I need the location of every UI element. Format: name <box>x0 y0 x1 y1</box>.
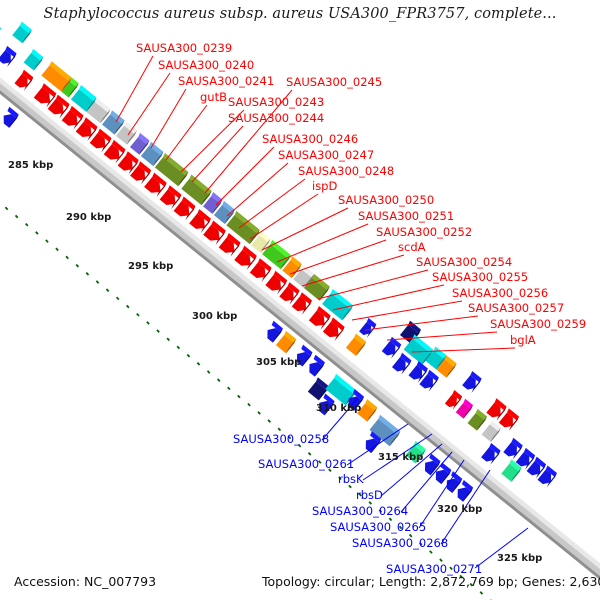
reverse-strand-labels[interactable]: SAUSA300_0258SAUSA300_0261rbsKrbsDSAUSA3… <box>0 0 600 600</box>
gene-label-sausa300_0261[interactable]: SAUSA300_0261 <box>258 458 354 470</box>
genome-viewer-canvas[interactable]: Staphylococcus aureus subsp. aureus USA3… <box>0 0 600 600</box>
accession-text: Accession: NC_007793 <box>14 574 156 589</box>
gene-label-sausa300_0258[interactable]: SAUSA300_0258 <box>233 433 329 445</box>
status-bar: Accession: NC_007793 Topology: circular;… <box>0 566 600 600</box>
gene-label-sausa300_0268[interactable]: SAUSA300_0268 <box>352 537 448 549</box>
gene-label-rbsk[interactable]: rbsK <box>338 473 364 485</box>
gene-label-sausa300_0264[interactable]: SAUSA300_0264 <box>312 505 408 517</box>
gene-label-rbsd[interactable]: rbsD <box>356 489 383 501</box>
gene-label-sausa300_0265[interactable]: SAUSA300_0265 <box>330 521 426 533</box>
topology-text: Topology: circular; Length: 2,872,769 bp… <box>262 574 600 589</box>
